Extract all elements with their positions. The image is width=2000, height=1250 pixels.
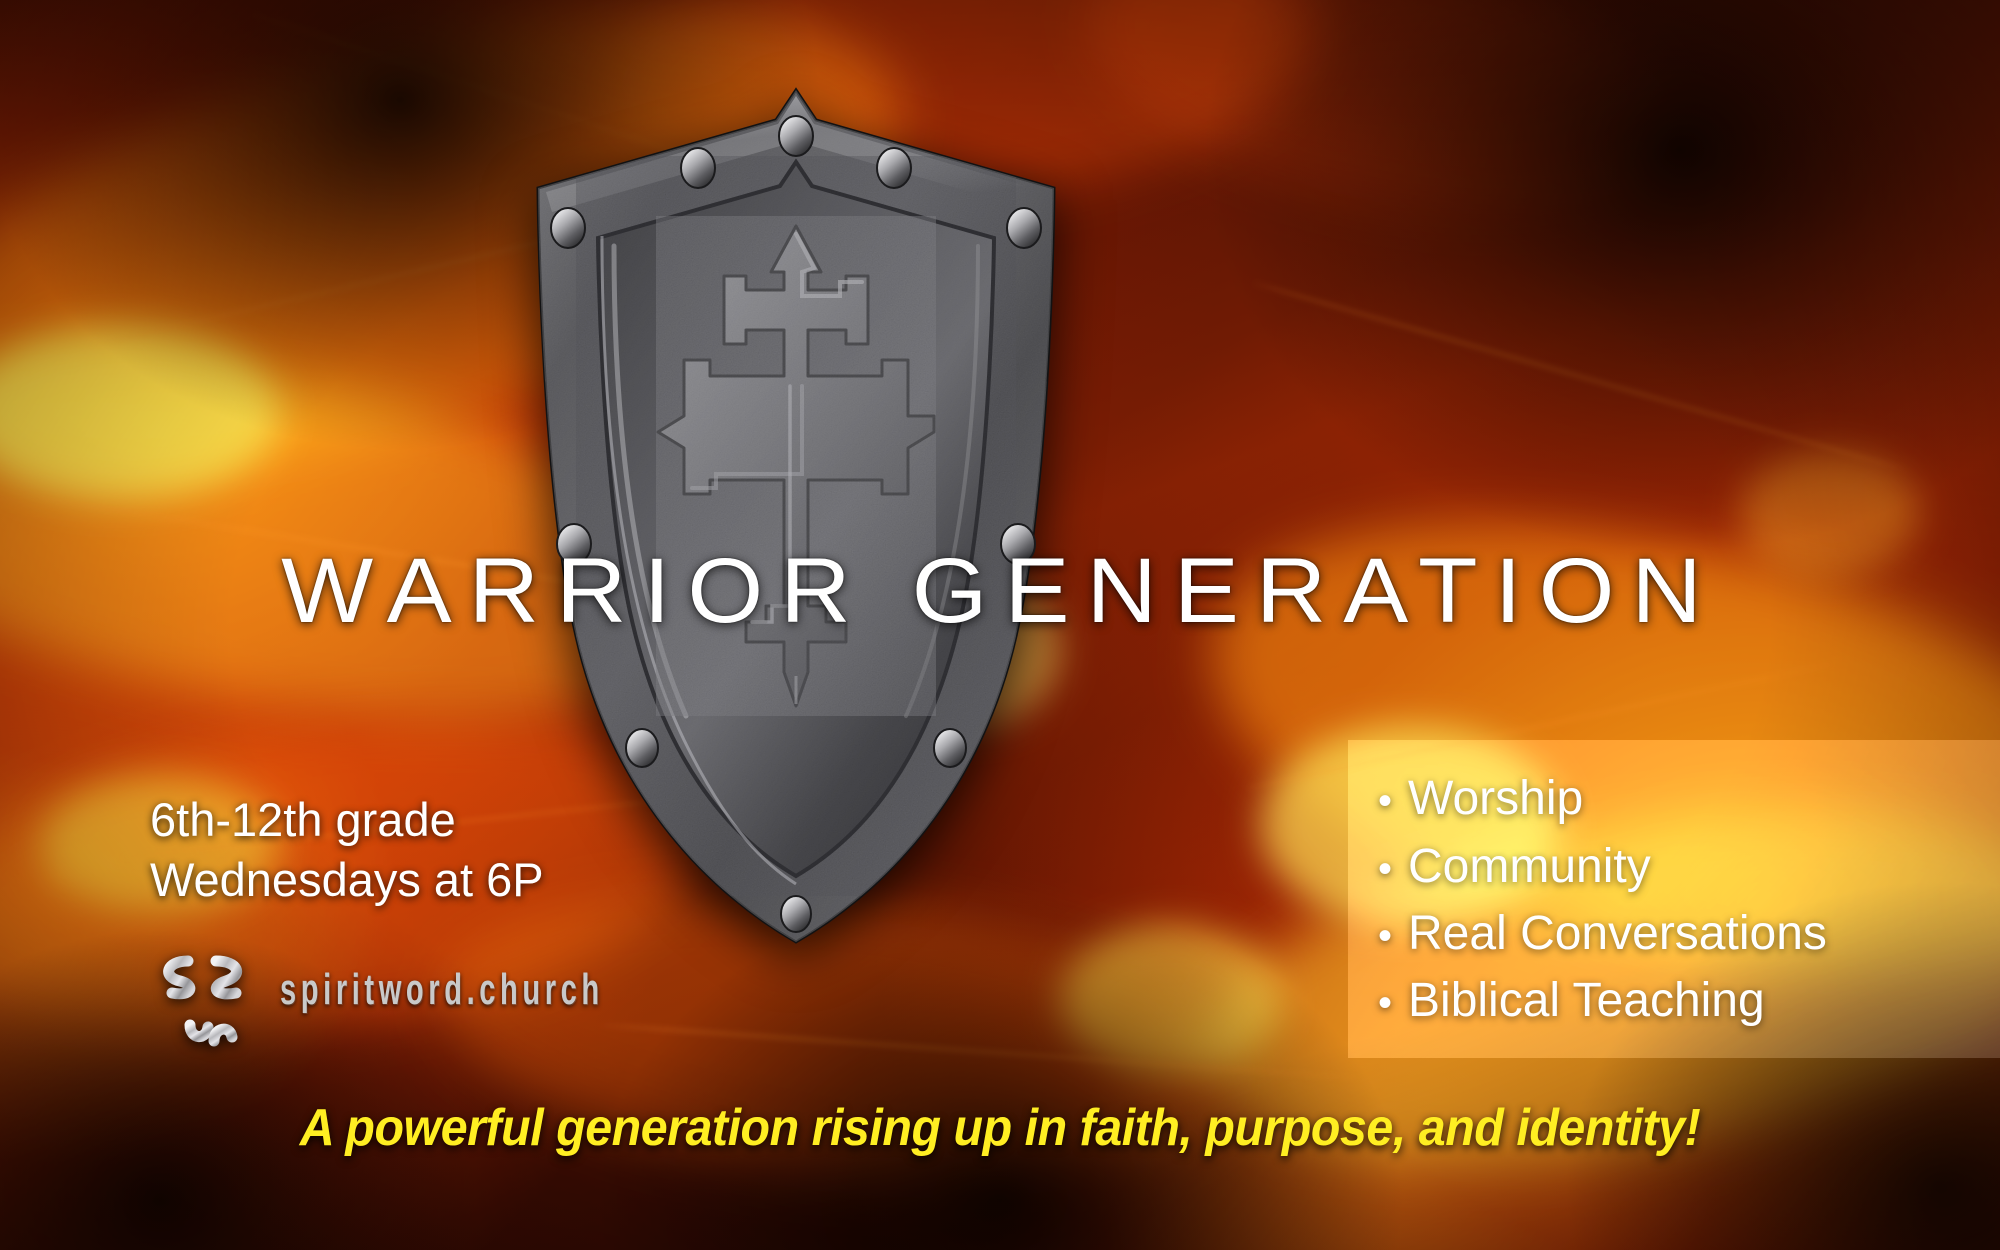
- list-item: • Community: [1378, 835, 2000, 898]
- list-item-label: Worship: [1408, 767, 1583, 830]
- bullet-icon: •: [1378, 849, 1392, 889]
- church-brand[interactable]: spiritword.church: [150, 931, 770, 1049]
- features-list: • Worship • Community • Real Conversatio…: [1378, 742, 2000, 1058]
- warrior-generation-poster: WARRIOR GENERATION 6th-12th grade Wednes…: [0, 0, 2000, 1250]
- poster-tagline: A powerful generation rising up in faith…: [70, 1098, 1930, 1158]
- bullet-icon: •: [1378, 781, 1392, 821]
- spiritword-monogram-icon: [150, 931, 262, 1049]
- list-item-label: Community: [1408, 835, 1651, 898]
- website-url[interactable]: spiritword.church: [280, 965, 604, 1015]
- list-item: • Worship: [1378, 767, 2000, 830]
- meeting-schedule: Wednesdays at 6P: [150, 850, 770, 910]
- list-item-label: Biblical Teaching: [1408, 969, 1765, 1032]
- list-item: • Biblical Teaching: [1378, 969, 2000, 1032]
- list-item: • Real Conversations: [1378, 902, 2000, 965]
- event-details: 6th-12th grade Wednesdays at 6P: [150, 790, 770, 1049]
- bullet-icon: •: [1378, 983, 1392, 1023]
- grade-range: 6th-12th grade: [150, 790, 770, 850]
- bullet-icon: •: [1378, 916, 1392, 956]
- list-item-label: Real Conversations: [1408, 902, 1827, 965]
